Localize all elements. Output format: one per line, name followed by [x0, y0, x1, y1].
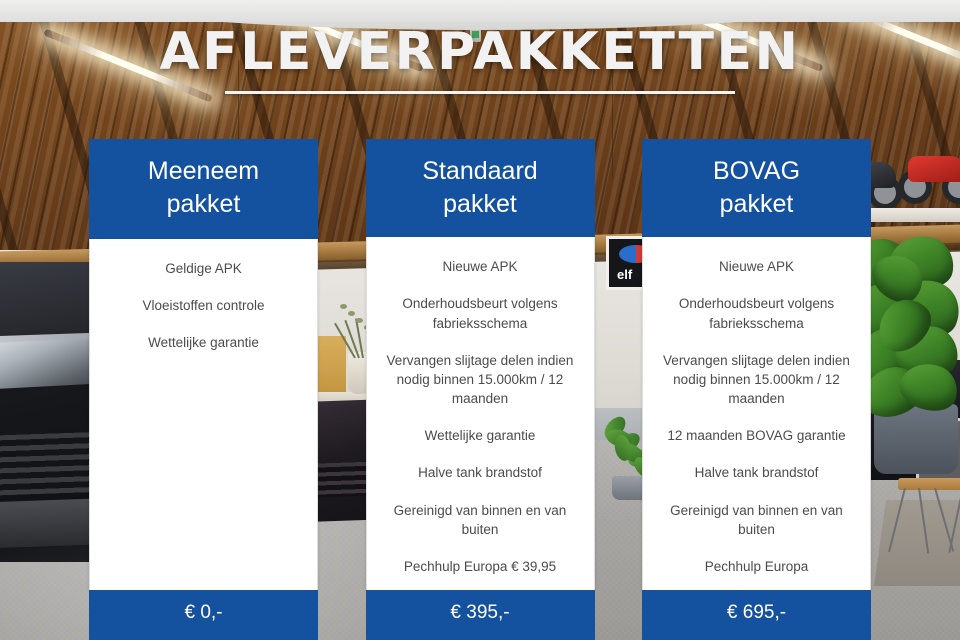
package-feature-item: Nieuwe APK — [657, 257, 856, 276]
page-title: AFLEVERPAKKETTEN — [0, 22, 960, 82]
title-divider-rule — [225, 91, 735, 94]
package-card-list: MeeneempakketGeldige APKVloeistoffen con… — [89, 139, 871, 640]
package-name-line1: Meeneem — [99, 155, 308, 188]
package-feature-list: Nieuwe APKOnderhoudsbeurt volgens fabrie… — [366, 237, 595, 590]
package-card-header: Standaardpakket — [366, 139, 595, 237]
package-feature-list: Geldige APKVloeistoffen controleWettelij… — [89, 239, 318, 590]
package-feature-list: Nieuwe APKOnderhoudsbeurt volgens fabrie… — [642, 237, 871, 590]
package-feature-item: Pechhulp Europa — [657, 557, 856, 576]
package-feature-item: Gereinigd van binnen en van buiten — [657, 501, 856, 539]
package-card-header: Meeneempakket — [89, 139, 318, 239]
package-price[interactable]: € 695,- — [642, 590, 871, 640]
package-price[interactable]: € 395,- — [366, 590, 595, 640]
package-feature-item: Onderhoudsbeurt volgens fabrieksschema — [381, 294, 580, 332]
package-feature-item: Gereinigd van binnen en van buiten — [381, 501, 580, 539]
package-name-line1: Standaard — [376, 155, 585, 188]
package-feature-item: Wettelijke garantie — [381, 426, 580, 445]
package-card-header: BOVAGpakket — [642, 139, 871, 237]
package-feature-item: Nieuwe APK — [381, 257, 580, 276]
package-feature-item: Geldige APK — [104, 259, 303, 278]
package-feature-item: 12 maanden BOVAG garantie — [657, 426, 856, 445]
package-card[interactable]: StandaardpakketNieuwe APKOnderhoudsbeurt… — [366, 139, 595, 640]
package-feature-item: Onderhoudsbeurt volgens fabrieksschema — [657, 294, 856, 332]
package-price[interactable]: € 0,- — [89, 590, 318, 640]
package-feature-item: Vervangen slijtage delen indien nodig bi… — [381, 351, 580, 408]
package-card[interactable]: MeeneempakketGeldige APKVloeistoffen con… — [89, 139, 318, 640]
package-feature-item: Vervangen slijtage delen indien nodig bi… — [657, 351, 856, 408]
package-card[interactable]: BOVAGpakketNieuwe APKOnderhoudsbeurt vol… — [642, 139, 871, 640]
package-name-line2: pakket — [376, 188, 585, 221]
package-name-line1: BOVAG — [652, 155, 861, 188]
package-name-line2: pakket — [652, 188, 861, 221]
package-feature-item: Pechhulp Europa € 39,95 — [381, 557, 580, 576]
package-feature-item: Halve tank brandstof — [657, 463, 856, 482]
pricing-section: AFLEVERPAKKETTEN MeeneempakketGeldige AP… — [0, 0, 960, 640]
package-feature-item: Wettelijke garantie — [104, 333, 303, 352]
package-feature-item: Halve tank brandstof — [381, 463, 580, 482]
package-feature-item: Vloeistoffen controle — [104, 296, 303, 315]
package-name-line2: pakket — [99, 188, 308, 221]
